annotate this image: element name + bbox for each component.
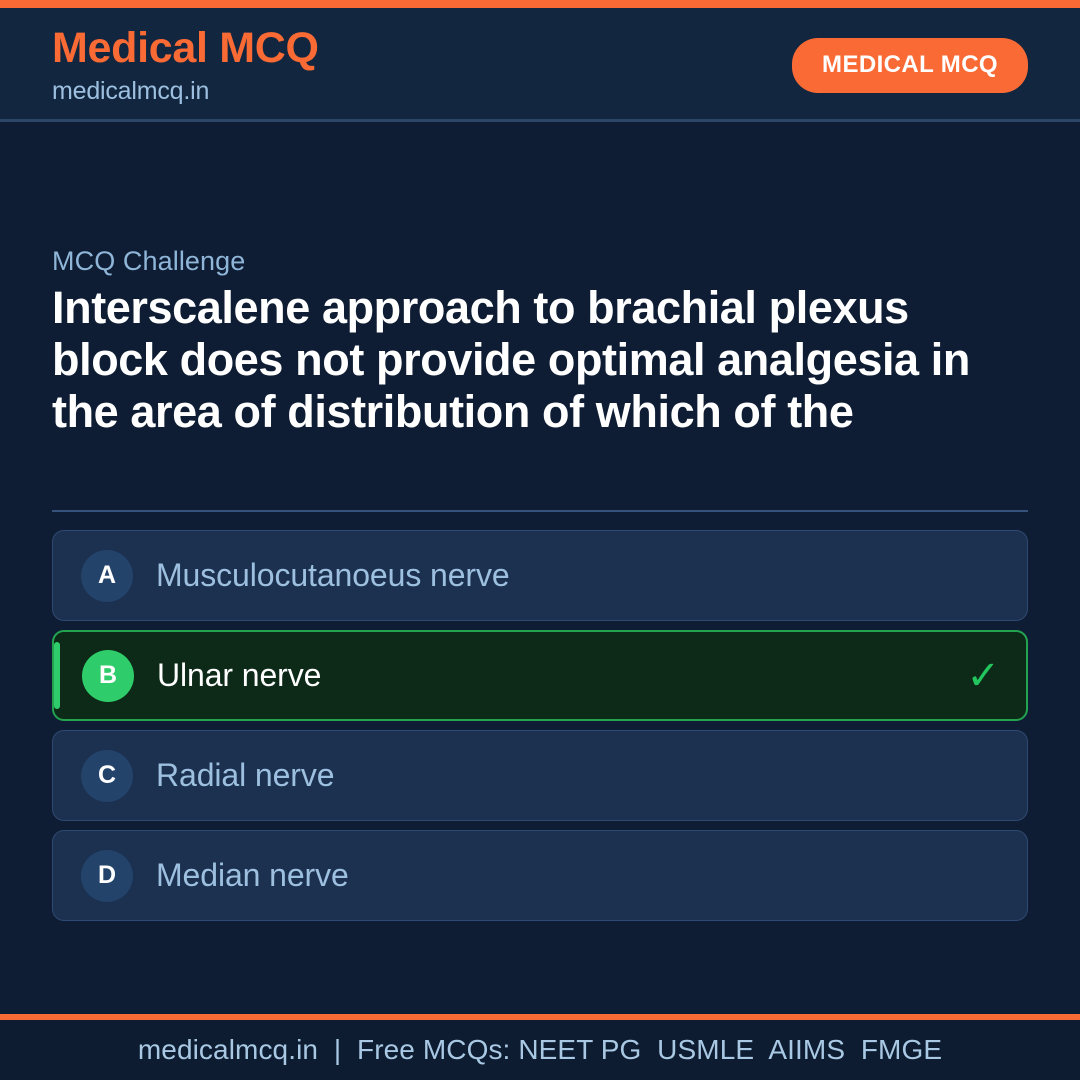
correct-accent-bar: [54, 642, 60, 709]
question-divider: [52, 510, 1028, 512]
question-text: Interscalene approach to brachial plexus…: [52, 282, 1032, 438]
header-badge: MEDICAL MCQ: [792, 38, 1028, 93]
option-b-label: Ulnar nerve: [157, 657, 321, 694]
footer-text: medicalmcq.in | Free MCQs: NEET PG USMLE…: [138, 1034, 942, 1066]
option-c[interactable]: C Radial nerve: [52, 730, 1028, 821]
page-header: Medical MCQ medicalmcq.in MEDICAL MCQ: [0, 8, 1080, 122]
brand-subtitle: medicalmcq.in: [52, 79, 319, 104]
page-footer: medicalmcq.in | Free MCQs: NEET PG USMLE…: [0, 1020, 1080, 1080]
brand: Medical MCQ medicalmcq.in: [52, 27, 319, 104]
mcq-card: Medical MCQ medicalmcq.in MEDICAL MCQ MC…: [0, 0, 1080, 1080]
option-a-letter: A: [81, 550, 133, 602]
check-icon: ✓: [966, 656, 1000, 696]
option-d-letter: D: [81, 850, 133, 902]
brand-title: Medical MCQ: [52, 27, 319, 70]
option-a[interactable]: A Musculocutanoeus nerve: [52, 530, 1028, 621]
option-c-label: Radial nerve: [156, 757, 334, 794]
top-accent-bar: [0, 0, 1080, 8]
option-c-letter: C: [81, 750, 133, 802]
main-content: MCQ Challenge Interscalene approach to b…: [0, 122, 1080, 1014]
options-list: A Musculocutanoeus nerve B Ulnar nerve ✓…: [52, 530, 1028, 921]
option-b-letter: B: [82, 650, 134, 702]
option-d-label: Median nerve: [156, 857, 349, 894]
eyebrow-label: MCQ Challenge: [52, 246, 245, 277]
option-d[interactable]: D Median nerve: [52, 830, 1028, 921]
option-a-label: Musculocutanoeus nerve: [156, 557, 510, 594]
option-b[interactable]: B Ulnar nerve ✓: [52, 630, 1028, 721]
